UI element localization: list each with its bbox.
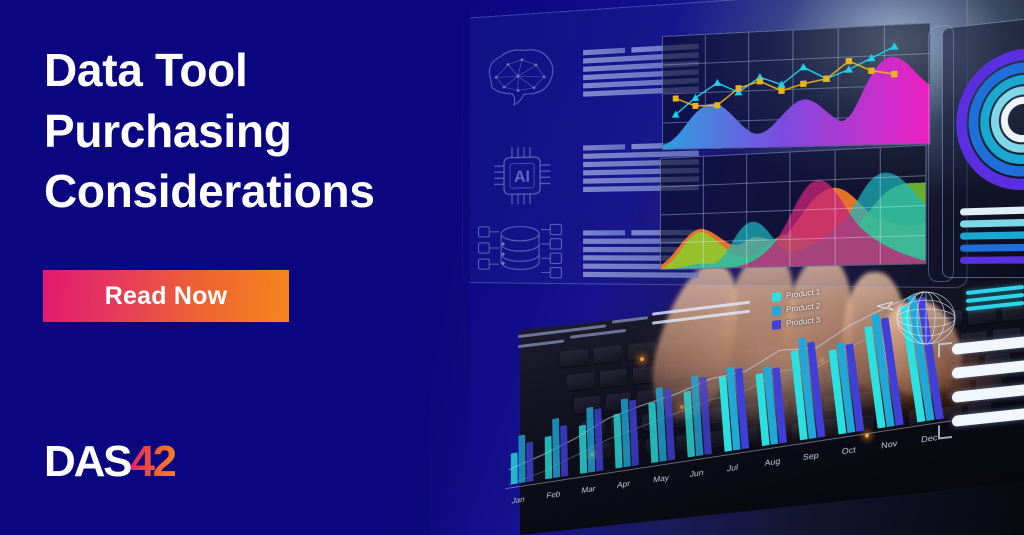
legend-swatch: [772, 320, 781, 330]
legend-swatch: [772, 306, 781, 316]
bar-group: [544, 417, 568, 480]
bar-chart-legend: Product 1 Product 2 Product 3: [772, 287, 820, 330]
bar: [526, 442, 533, 483]
airplane-icon: [876, 300, 894, 312]
headline-line-2: Purchasing: [44, 101, 444, 162]
slider-track[interactable]: [952, 382, 1024, 403]
das42-logo[interactable]: DAS 42: [44, 437, 175, 487]
svg-text:AI: AI: [514, 168, 530, 186]
bar-group: [648, 386, 676, 463]
bracket-corner: [938, 342, 952, 357]
slider-progress-panel: [938, 321, 1024, 460]
slider-track[interactable]: [952, 408, 1024, 427]
bracket-corner: [938, 424, 952, 439]
legend-item: Product 2: [772, 301, 820, 316]
promo-banner: AI: [0, 0, 1024, 535]
database-nodes-icon: [477, 220, 565, 285]
bar: [518, 435, 525, 484]
logo-text-accent: 42: [130, 437, 175, 487]
ai-chip-icon: AI: [486, 138, 558, 218]
panel-frame-edge: [928, 24, 954, 282]
bar-group: [511, 433, 534, 484]
left-content-panel: Data Tool Purchasing Considerations Read…: [0, 0, 470, 535]
slider-track[interactable]: [952, 334, 1024, 355]
concentric-donut: [956, 42, 1024, 193]
top-wave-chart: [662, 22, 931, 150]
bar: [545, 436, 553, 479]
legend-swatch: [772, 292, 781, 302]
bar: [511, 452, 518, 484]
legend-label: Product 2: [786, 301, 820, 314]
month-label: Jul: [727, 463, 739, 474]
slider-track[interactable]: [952, 358, 1024, 379]
bar: [552, 418, 560, 478]
headline-line-3: Considerations: [44, 161, 444, 222]
headline-line-1: Data Tool: [44, 40, 444, 101]
read-now-button[interactable]: Read Now: [43, 270, 289, 322]
logo-text-primary: DAS: [44, 437, 130, 487]
bar: [579, 425, 587, 474]
bar-group: [613, 397, 639, 469]
donut-chart-panel: [942, 9, 1024, 279]
page-title: Data Tool Purchasing Considerations: [44, 40, 444, 222]
bar: [560, 425, 568, 477]
brain-network-icon: [480, 43, 558, 115]
bottom-wave-chart: [660, 145, 926, 270]
bar-group: [578, 405, 603, 473]
